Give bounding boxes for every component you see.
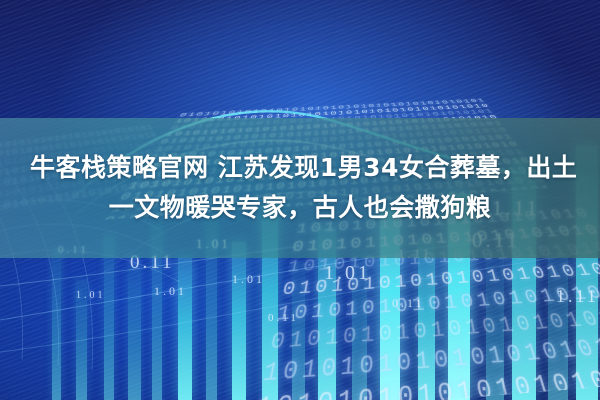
headline-block: 牛客栈策略官网 江苏发现1男34女合葬墓，出土 一文物暖哭专家，古人也会撒狗粮 <box>0 118 600 258</box>
headline-line-2: 一文物暖哭专家，古人也会撒狗粮 <box>109 191 492 225</box>
headline-line-1: 牛客栈策略官网 江苏发现1男34女合葬墓，出土 <box>24 151 577 185</box>
banner-image: 0101010101010101010101010101010101010101… <box>0 0 600 400</box>
